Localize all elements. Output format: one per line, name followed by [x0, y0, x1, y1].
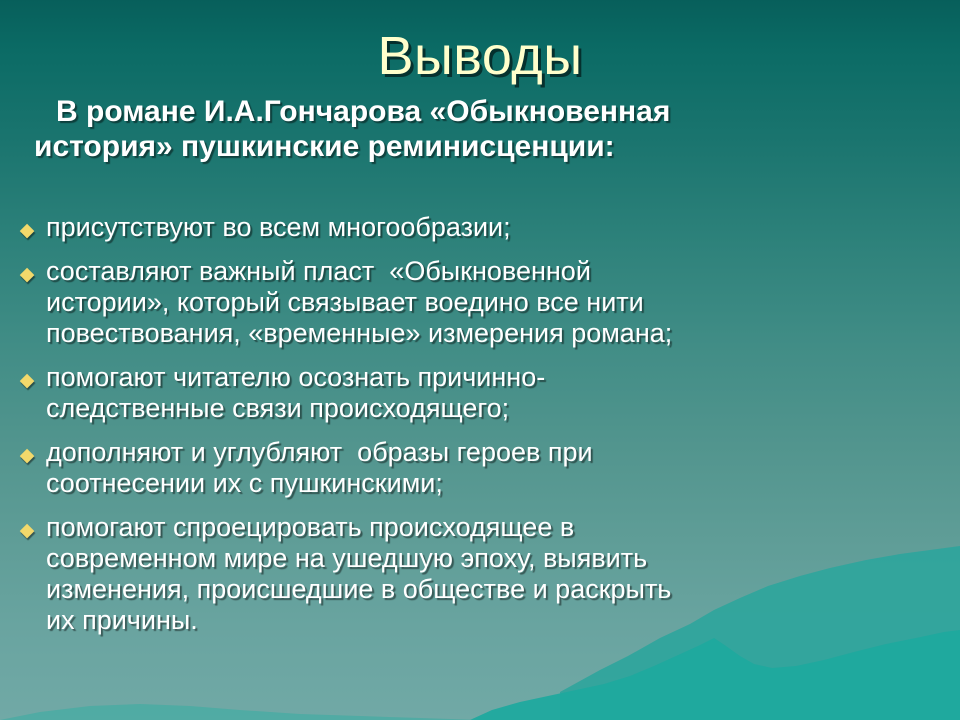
list-item-line: дополняют и углубляют образы героев при — [46, 437, 948, 468]
list-item: ◆ помогают читателю осознать причинно- с… — [8, 362, 958, 424]
gold-diamond-bullet-icon: ◆ — [8, 212, 46, 240]
gold-diamond-bullet-icon: ◆ — [8, 437, 46, 465]
list-item: ◆ дополняют и углубляют образы героев пр… — [8, 437, 958, 499]
list-item-text: дополняют и углубляют образы героев при … — [46, 437, 958, 499]
slide-title: Выводы — [0, 26, 960, 86]
list-item-text: помогают спроецировать происходящее в со… — [46, 512, 958, 636]
list-item: ◆ помогают спроецировать происходящее в … — [8, 512, 958, 636]
list-item-text: присутствуют во всем многообразии; — [46, 212, 958, 243]
list-item-line: помогают читателю осознать причинно- — [46, 362, 948, 393]
list-item-line: составляют важный пласт «Обыкновенной — [46, 256, 948, 287]
list-item-line: современном мире на ушедшую эпоху, выяви… — [46, 543, 948, 574]
list-item-text: помогают читателю осознать причинно- сле… — [46, 362, 958, 424]
ridge-lowest-shape — [0, 704, 480, 720]
list-item-line: присутствуют во всем многообразии; — [46, 212, 948, 243]
list-item-line: помогают спроецировать происходящее в — [46, 512, 948, 543]
list-item-line: следственные связи происходящего; — [46, 393, 948, 424]
presentation-slide: Выводы В романе И.А.Гончарова «Обыкновен… — [0, 0, 960, 720]
list-item-text: составляют важный пласт «Обыкновенной ис… — [46, 256, 958, 349]
gold-diamond-bullet-icon: ◆ — [8, 362, 46, 390]
list-item-line: истории», который связывает воедино все … — [46, 287, 948, 318]
gold-diamond-bullet-icon: ◆ — [8, 512, 46, 540]
gold-diamond-bullet-icon: ◆ — [8, 256, 46, 284]
subtitle-line: история» пушкинские реминисценции: — [34, 129, 934, 164]
list-item-line: их причины. — [46, 605, 948, 636]
slide-subtitle: В романе И.А.Гончарова «Обыкновенная ист… — [34, 94, 934, 164]
list-item-line: повествования, «временные» измерения ром… — [46, 318, 948, 349]
list-item-line: соотнесении их с пушкинскими; — [46, 468, 948, 499]
conclusions-bullet-list: ◆ присутствуют во всем многообразии; ◆ с… — [8, 212, 958, 649]
list-item: ◆ присутствуют во всем многообразии; — [8, 212, 958, 243]
subtitle-line: В романе И.А.Гончарова «Обыкновенная — [34, 94, 934, 129]
list-item: ◆ составляют важный пласт «Обыкновенной … — [8, 256, 958, 349]
list-item-line: изменения, происшедшие в обществе и раск… — [46, 574, 948, 605]
